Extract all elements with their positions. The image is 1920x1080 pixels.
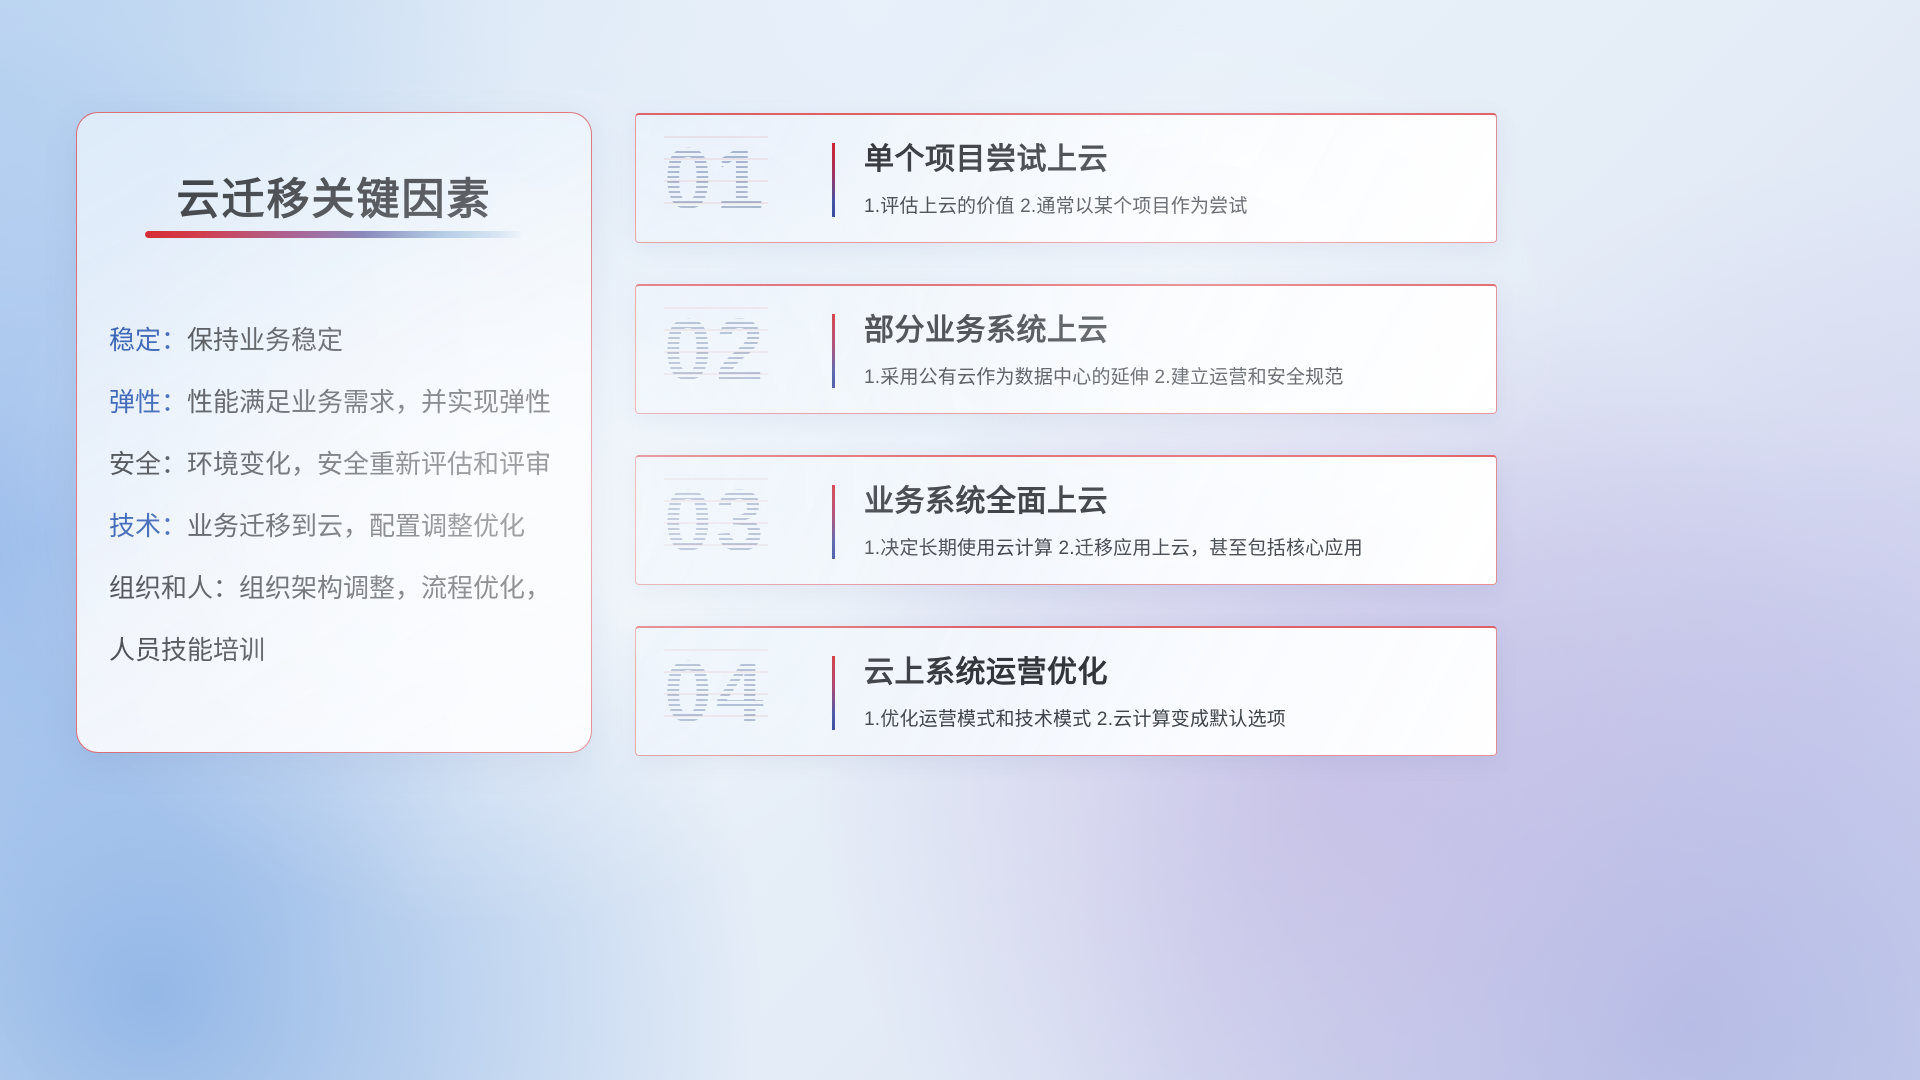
stage-description: 1.决定长期使用云计算 2.迁移应用上云，甚至包括核心应用 bbox=[864, 533, 1478, 560]
slide-canvas: 云迁移关键因素 稳定：保持业务稳定 弹性：性能满足业务需求，并实现弹性 安全：环… bbox=[0, 0, 1920, 1080]
stage-number: 02 bbox=[664, 307, 768, 393]
factor-label: 安全： bbox=[109, 449, 187, 479]
stage-card[interactable]: 02 部分业务系统上云 1.采用公有云作为数据中心的延伸 2.建立运营和安全规范 bbox=[635, 284, 1497, 414]
stage-number: 04 bbox=[664, 649, 768, 735]
stage-card[interactable]: 03 业务系统全面上云 1.决定长期使用云计算 2.迁移应用上云，甚至包括核心应… bbox=[635, 455, 1497, 585]
stage-divider bbox=[832, 314, 835, 388]
factor-text: 保持业务稳定 bbox=[187, 325, 343, 355]
factor-label: 技术： bbox=[109, 511, 187, 541]
stage-title: 单个项目尝试上云 bbox=[864, 141, 1478, 179]
factor-label: 稳定： bbox=[109, 325, 187, 355]
stage-title: 云上系统运营优化 bbox=[864, 654, 1478, 692]
factor-label: 弹性： bbox=[109, 387, 187, 417]
factor-text: 环境变化，安全重新评估和评审 bbox=[187, 449, 551, 479]
factor-label: 组织和人： bbox=[109, 573, 239, 603]
list-item: 组织和人：组织架构调整，流程优化， bbox=[109, 557, 573, 619]
stage-description: 1.采用公有云作为数据中心的延伸 2.建立运营和安全规范 bbox=[864, 362, 1478, 389]
list-item: 技术：业务迁移到云，配置调整优化 bbox=[109, 495, 573, 557]
stage-description: 1.评估上云的价值 2.通常以某个项目作为尝试 bbox=[864, 191, 1478, 218]
list-item: 稳定：保持业务稳定 bbox=[109, 309, 573, 371]
stage-number: 03 bbox=[664, 478, 768, 564]
stage-title: 部分业务系统上云 bbox=[864, 312, 1478, 350]
stage-description: 1.优化运营模式和技术模式 2.云计算变成默认选项 bbox=[864, 704, 1478, 731]
list-item: 安全：环境变化，安全重新评估和评审 bbox=[109, 433, 573, 495]
title-underline-rule bbox=[145, 231, 523, 238]
stage-divider bbox=[832, 656, 835, 730]
stage-body: 业务系统全面上云 1.决定长期使用云计算 2.迁移应用上云，甚至包括核心应用 bbox=[864, 483, 1478, 560]
page-title: 云迁移关键因素 bbox=[77, 165, 591, 227]
stage-title: 业务系统全面上云 bbox=[864, 483, 1478, 521]
stage-divider bbox=[832, 143, 835, 217]
stage-body: 云上系统运营优化 1.优化运营模式和技术模式 2.云计算变成默认选项 bbox=[864, 654, 1478, 731]
factor-text: 业务迁移到云，配置调整优化 bbox=[187, 511, 525, 541]
list-item: 弹性：性能满足业务需求，并实现弹性 bbox=[109, 371, 573, 433]
migration-stage-cards: 01 单个项目尝试上云 1.评估上云的价值 2.通常以某个项目作为尝试 02 部… bbox=[635, 113, 1497, 756]
stage-body: 部分业务系统上云 1.采用公有云作为数据中心的延伸 2.建立运营和安全规范 bbox=[864, 312, 1478, 389]
stage-number: 01 bbox=[664, 136, 768, 222]
factor-text: 组织架构调整，流程优化， bbox=[239, 573, 551, 603]
factor-list: 稳定：保持业务稳定 弹性：性能满足业务需求，并实现弹性 安全：环境变化，安全重新… bbox=[109, 309, 573, 681]
factor-text: 性能满足业务需求，并实现弹性 bbox=[187, 387, 551, 417]
list-item-continuation: 人员技能培训 bbox=[109, 619, 573, 681]
stage-card[interactable]: 04 云上系统运营优化 1.优化运营模式和技术模式 2.云计算变成默认选项 bbox=[635, 626, 1497, 756]
stage-card[interactable]: 01 单个项目尝试上云 1.评估上云的价值 2.通常以某个项目作为尝试 bbox=[635, 113, 1497, 243]
stage-body: 单个项目尝试上云 1.评估上云的价值 2.通常以某个项目作为尝试 bbox=[864, 141, 1478, 218]
key-factors-panel: 云迁移关键因素 稳定：保持业务稳定 弹性：性能满足业务需求，并实现弹性 安全：环… bbox=[76, 112, 592, 753]
stage-divider bbox=[832, 485, 835, 559]
